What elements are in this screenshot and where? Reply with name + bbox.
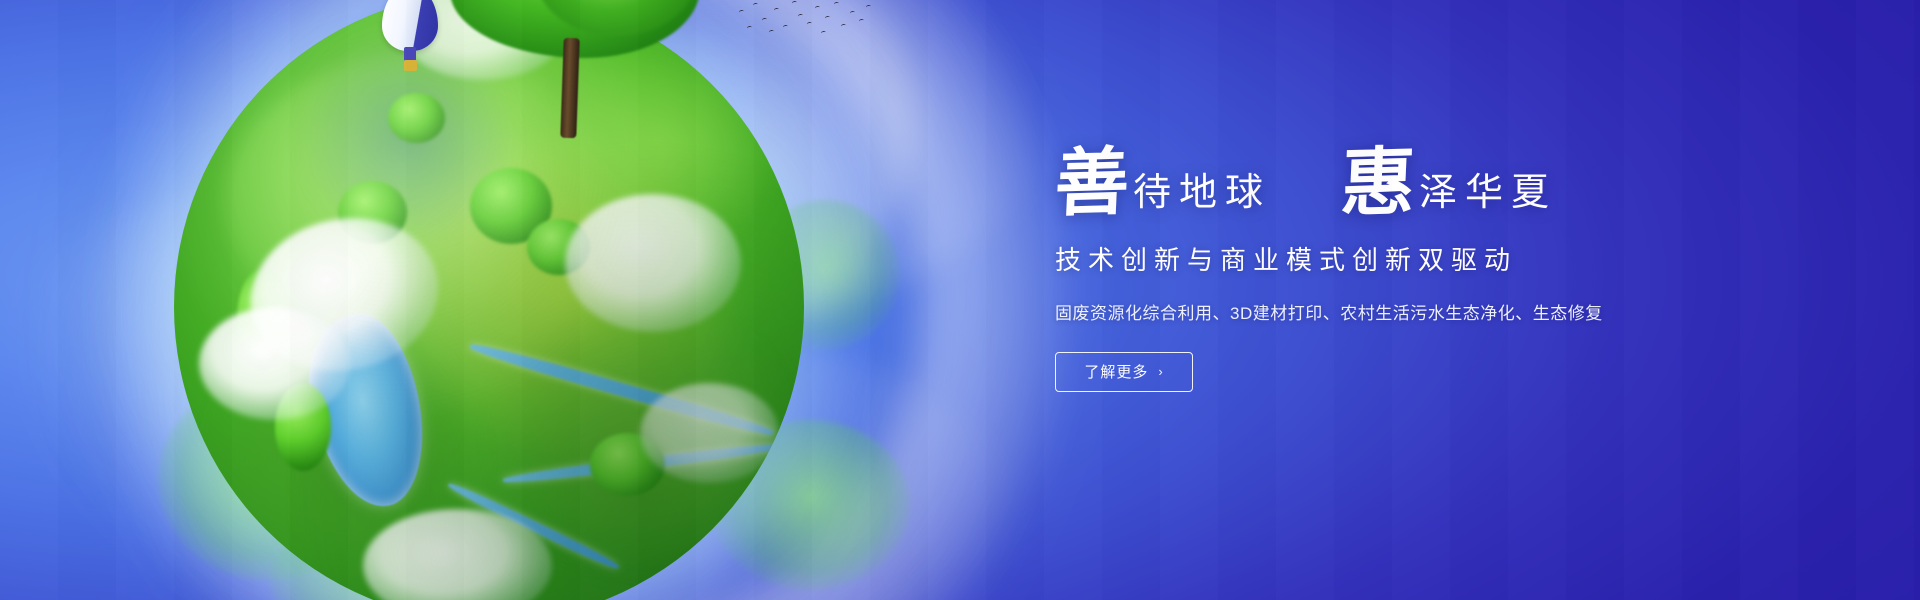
large-tree-icon <box>450 0 700 123</box>
headline-phrase-2: 惠 泽华夏 <box>1341 150 1557 218</box>
headline-rest-daidiqiu: 待地球 <box>1133 174 1271 212</box>
learn-more-button[interactable]: 了解更多 › <box>1055 352 1193 392</box>
headline-rest-zehuaxia: 泽华夏 <box>1419 174 1557 212</box>
hero-banner: 善 待地球 惠 泽华夏 技术创新与商业模式创新双驱动 固废资源化综合利用、3D建… <box>0 0 1920 600</box>
headline-phrase-1: 善 待地球 <box>1055 150 1271 218</box>
hero-description: 固废资源化综合利用、3D建材打印、农村生活污水生态净化、生态修复 <box>1055 302 1775 326</box>
globe-illustration <box>150 0 850 600</box>
birds-flock-icon <box>735 0 875 46</box>
balloon-basket <box>404 60 417 71</box>
hero-headline: 善 待地球 惠 泽华夏 <box>1055 150 1775 218</box>
balloon-envelope <box>382 0 438 51</box>
headline-char-shan: 善 <box>1053 149 1130 219</box>
learn-more-label: 了解更多 <box>1084 361 1148 382</box>
hot-air-balloon-icon <box>382 0 438 77</box>
hero-content: 善 待地球 惠 泽华夏 技术创新与商业模式创新双驱动 固废资源化综合利用、3D建… <box>1055 150 1775 392</box>
chevron-right-icon: › <box>1158 365 1163 378</box>
hero-subtitle: 技术创新与商业模式创新双驱动 <box>1055 244 1775 278</box>
balloon-neck <box>404 47 416 61</box>
headline-char-hui: 惠 <box>1339 149 1416 219</box>
